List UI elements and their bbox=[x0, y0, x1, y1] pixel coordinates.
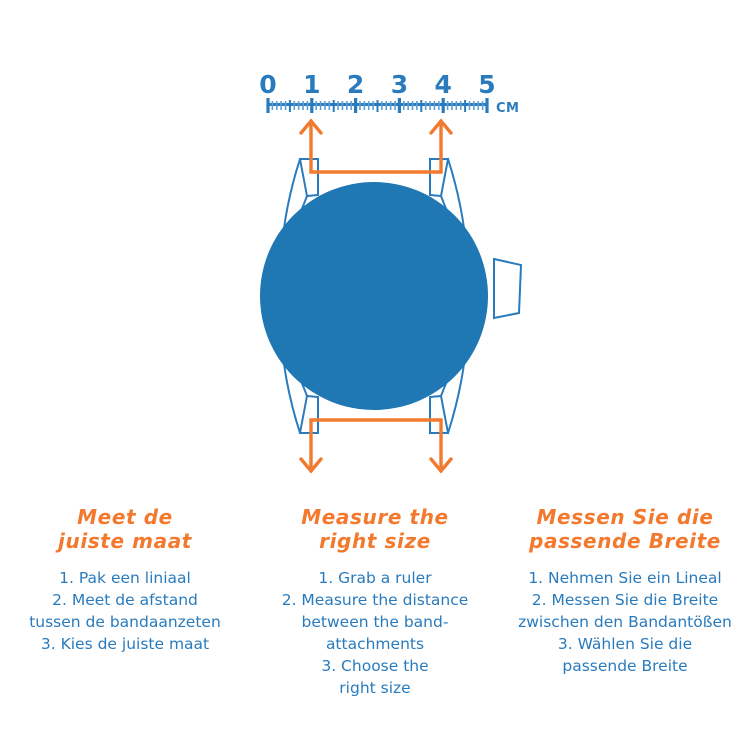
top-left-lug bbox=[300, 159, 318, 196]
instruction-column-nl: Meet de juiste maat 1. Pak een liniaal 2… bbox=[0, 505, 250, 655]
ruler-tick-label-0: 0 bbox=[259, 70, 276, 99]
ruler-unit-label: CM bbox=[496, 101, 519, 116]
ruler-tick-label-5: 5 bbox=[478, 70, 495, 99]
ruler-tick-label-2: 2 bbox=[347, 70, 364, 99]
watch-case bbox=[260, 182, 488, 410]
bottom-left-lug bbox=[300, 396, 318, 433]
instruction-column-en: Measure the right size 1. Grab a ruler 2… bbox=[250, 505, 500, 699]
watch-crown bbox=[494, 259, 521, 318]
bottom-measure-bracket bbox=[311, 420, 441, 468]
top-right-lug bbox=[430, 159, 448, 196]
column-steps-nl: 1. Pak een liniaal 2. Meet de afstand tu… bbox=[4, 567, 246, 655]
instruction-columns: Meet de juiste maat 1. Pak een liniaal 2… bbox=[0, 505, 750, 699]
column-heading-de: Messen Sie die passende Breite bbox=[504, 505, 746, 554]
watch-illustration bbox=[260, 159, 521, 433]
ruler-group: 0 1 2 3 4 5 CM bbox=[259, 70, 519, 116]
top-measure-bracket bbox=[311, 124, 441, 172]
ruler-tick-label-4: 4 bbox=[434, 70, 451, 99]
column-steps-en: 1. Grab a ruler 2. Measure the distance … bbox=[254, 567, 496, 699]
column-heading-nl: Meet de juiste maat bbox=[4, 505, 246, 554]
instruction-column-de: Messen Sie die passende Breite 1. Nehmen… bbox=[500, 505, 750, 677]
ruler-tick-label-1: 1 bbox=[303, 70, 320, 99]
bottom-right-lug bbox=[430, 396, 448, 433]
ruler-tick-label-3: 3 bbox=[391, 70, 408, 99]
column-steps-de: 1. Nehmen Sie ein Lineal 2. Messen Sie d… bbox=[504, 567, 746, 677]
column-heading-en: Measure the right size bbox=[254, 505, 496, 554]
guide-canvas: 0 1 2 3 4 5 CM bbox=[0, 0, 750, 750]
